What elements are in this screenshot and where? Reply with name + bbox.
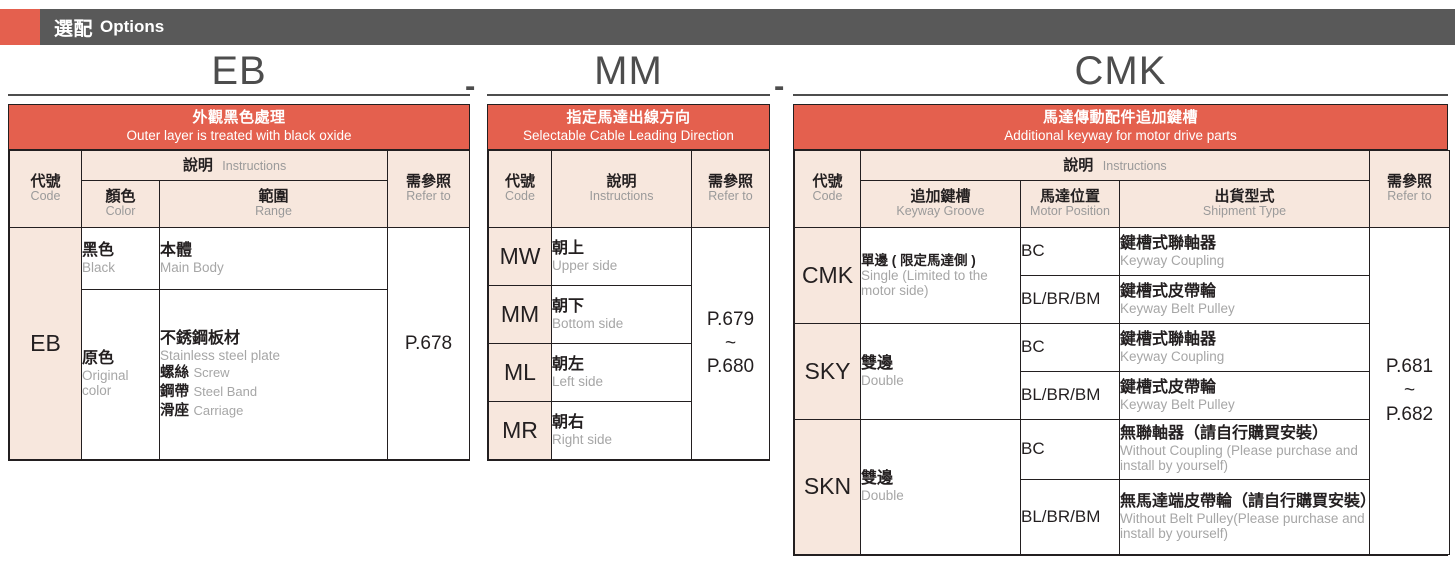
cell-shipment-type: 無馬達端皮帶輪（請自行購買安裝） Without Belt Pulley(Ple… xyxy=(1120,479,1370,554)
shipment-cn: 無聯軸器（請自行購買安裝） xyxy=(1120,425,1369,443)
title-group-mm: MM xyxy=(487,48,770,96)
table-cmk-grid: 代號 Code 說明 Instructions 需參照 Refer to 追加鍵… xyxy=(794,150,1450,555)
range-item-en: Stainless steel plate xyxy=(160,348,387,363)
cell-keyway-skn: 雙邊 Double xyxy=(861,419,1021,554)
keyway-cn: 雙邊 xyxy=(861,355,1020,373)
options-title-cn: 選配 xyxy=(54,14,93,41)
cell-shipment-type: 鍵槽式聯軸器 Keyway Coupling xyxy=(1120,227,1370,275)
table-row: CMK 單邊 ( 限定馬達側 ) Single (Limited to the … xyxy=(795,227,1450,275)
header-instructions-cn: 說明 xyxy=(1063,157,1093,174)
cell-shipment-type: 鍵槽式皮帶輪 Keyway Belt Pulley xyxy=(1120,371,1370,419)
cell-motor-position: BC xyxy=(1021,419,1120,479)
keyway-cn: 雙邊 xyxy=(861,470,1020,488)
cell-direction-mw: 朝上 Upper side xyxy=(552,227,692,285)
range-item: 鋼帶 Steel Band xyxy=(160,383,387,401)
header-shipment-en: Shipment Type xyxy=(1120,205,1369,219)
refer-line-1: P.681 xyxy=(1370,355,1449,379)
cell-motor-position: BL/BR/BM xyxy=(1021,371,1120,419)
range-item: 螺絲 Screw xyxy=(160,364,387,382)
range-item-cn: 鋼帶 xyxy=(160,384,189,400)
table-eb-grid: 代號 Code 說明 Instructions 需參照 Refer to 顏色 … xyxy=(9,150,470,460)
header-refer-en: Refer to xyxy=(1370,190,1449,204)
cell-code-sky: SKY xyxy=(795,323,861,419)
range-item-en: Screw xyxy=(193,365,229,380)
header-refer-to: 需參照 Refer to xyxy=(388,150,470,227)
header-range: 範圍 Range xyxy=(160,180,388,227)
cell-code-skn: SKN xyxy=(795,419,861,554)
table-eb-band: 外觀黑色處理 Outer layer is treated with black… xyxy=(9,105,469,150)
direction-en: Left side xyxy=(552,374,691,389)
cell-motor-position: BC xyxy=(1021,227,1120,275)
table-row: EB 黑色 Black 本體 Main Body P.678 xyxy=(10,227,470,289)
table-mm-header-row: 代號 Code 說明 Instructions 需參照 Refer to xyxy=(489,150,770,227)
table-cmk-band-en: Additional keyway for motor drive parts xyxy=(798,128,1443,143)
separator-dash-1: - xyxy=(465,76,475,96)
table-cmk: 馬達傳動配件追加鍵槽 Additional keyway for motor d… xyxy=(793,104,1448,556)
direction-cn: 朝右 xyxy=(552,414,691,432)
cell-range-original: 不銹鋼板材 Stainless steel plate 螺絲 Screw 鋼帶 … xyxy=(160,289,388,459)
cell-code-eb: EB xyxy=(10,227,82,459)
header-instructions-en: Instructions xyxy=(552,190,691,204)
cell-range-main-body: 本體 Main Body xyxy=(160,227,388,289)
title-mm: MM xyxy=(487,48,770,94)
header-range-en: Range xyxy=(160,205,387,219)
header-instructions: 說明 Instructions xyxy=(861,150,1370,180)
header-code: 代號 Code xyxy=(795,150,861,227)
options-header-bar: 選配 Options xyxy=(0,9,1455,45)
header-instructions: 說明 Instructions xyxy=(552,150,692,227)
refer-line-1: P.679 xyxy=(692,308,769,332)
range-item-en: Main Body xyxy=(160,260,387,275)
header-code-cn: 代號 xyxy=(10,174,81,191)
options-header-body: 選配 Options xyxy=(40,9,1455,45)
cell-motor-position: BC xyxy=(1021,323,1120,371)
cell-color-black: 黑色 Black xyxy=(82,227,160,289)
cell-code-mm: MM xyxy=(489,285,552,343)
cell-code-cmk: CMK xyxy=(795,227,861,323)
table-mm-band-en: Selectable Cable Leading Direction xyxy=(492,128,765,143)
cell-shipment-type: 鍵槽式皮帶輪 Keyway Belt Pulley xyxy=(1120,275,1370,323)
table-mm-band-cn: 指定馬達出線方向 xyxy=(492,110,765,127)
table-mm: 指定馬達出線方向 Selectable Cable Leading Direct… xyxy=(487,104,770,461)
direction-cn: 朝上 xyxy=(552,240,691,258)
shipment-cn: 鍵槽式聯軸器 xyxy=(1120,331,1369,349)
shipment-cn: 鍵槽式聯軸器 xyxy=(1120,235,1369,253)
header-instructions-cn: 說明 xyxy=(183,157,213,174)
title-rule-eb xyxy=(8,94,470,96)
title-rule-cmk xyxy=(793,94,1448,96)
shipment-en: Keyway Coupling xyxy=(1120,349,1369,364)
range-item-cn: 不銹鋼板材 xyxy=(160,330,387,348)
range-item-cn: 本體 xyxy=(160,242,387,260)
header-refer-en: Refer to xyxy=(388,190,469,204)
header-shipment-cn: 出貨型式 xyxy=(1120,189,1369,206)
cell-color-black-en: Black xyxy=(82,260,159,275)
refer-line-3: P.680 xyxy=(692,355,769,379)
table-cmk-header-row-2: 追加鍵槽 Keyway Groove 馬達位置 Motor Position 出… xyxy=(795,180,1450,227)
shipment-en: Keyway Belt Pulley xyxy=(1120,397,1369,412)
keyway-cn: 單邊 ( 限定馬達側 ) xyxy=(861,253,1020,268)
title-group-eb: EB xyxy=(8,48,470,96)
header-code-cn: 代號 xyxy=(489,174,551,191)
header-instructions-en: Instructions xyxy=(1103,159,1167,173)
table-row: SKN 雙邊 Double BC 無聯軸器（請自行購買安裝） Without C… xyxy=(795,419,1450,479)
shipment-cn: 無馬達端皮帶輪（請自行購買安裝） xyxy=(1120,493,1369,511)
header-refer-cn: 需參照 xyxy=(692,174,769,191)
cell-motor-position: BL/BR/BM xyxy=(1021,275,1120,323)
header-code-en: Code xyxy=(489,190,551,204)
title-eb: EB xyxy=(8,48,470,94)
keyway-en: Double xyxy=(861,488,1020,503)
header-motorpos-en: Motor Position xyxy=(1021,205,1119,219)
header-code-cn: 代號 xyxy=(795,174,860,191)
refer-line-3: P.682 xyxy=(1370,403,1449,427)
range-item-en: Carriage xyxy=(193,403,243,418)
range-item-cn: 螺絲 xyxy=(160,365,189,381)
header-instructions-cn: 說明 xyxy=(552,174,691,191)
cell-color-black-cn: 黑色 xyxy=(82,242,159,260)
range-item-cn: 滑座 xyxy=(160,403,189,419)
cell-direction-ml: 朝左 Left side xyxy=(552,343,692,401)
cell-code-mw: MW xyxy=(489,227,552,285)
title-cmk: CMK xyxy=(793,48,1448,94)
cell-refer-to-eb: P.678 xyxy=(388,227,470,459)
cell-motor-position: BL/BR/BM xyxy=(1021,479,1120,554)
table-eb-header-row-1: 代號 Code 說明 Instructions 需參照 Refer to xyxy=(10,150,470,180)
cell-direction-mm: 朝下 Bottom side xyxy=(552,285,692,343)
header-refer-cn: 需參照 xyxy=(388,174,469,191)
cell-color-original-en: Original color xyxy=(82,368,159,398)
accent-block xyxy=(0,9,40,45)
keyway-en: Single (Limited to the motor side) xyxy=(861,268,1020,298)
separator-dash-2: - xyxy=(774,76,784,96)
title-rule-mm xyxy=(487,94,770,96)
header-refer-en: Refer to xyxy=(692,190,769,204)
shipment-cn: 鍵槽式皮帶輪 xyxy=(1120,379,1369,397)
header-keyway-groove: 追加鍵槽 Keyway Groove xyxy=(861,180,1021,227)
header-refer-to: 需參照 Refer to xyxy=(692,150,770,227)
cell-keyway-sky: 雙邊 Double xyxy=(861,323,1021,419)
table-eb-band-en: Outer layer is treated with black oxide xyxy=(13,128,465,143)
header-instructions-en: Instructions xyxy=(222,159,286,173)
header-motor-position: 馬達位置 Motor Position xyxy=(1021,180,1120,227)
cell-refer-to-cmk: P.681 ~ P.682 xyxy=(1370,227,1450,554)
header-code-en: Code xyxy=(795,190,860,204)
shipment-en: Keyway Belt Pulley xyxy=(1120,301,1369,316)
header-instructions: 說明 Instructions xyxy=(82,150,388,180)
table-eb-band-cn: 外觀黑色處理 xyxy=(13,110,465,127)
header-keyway-en: Keyway Groove xyxy=(861,205,1020,219)
title-group-cmk: CMK xyxy=(793,48,1448,96)
cell-direction-mr: 朝右 Right side xyxy=(552,401,692,459)
table-cmk-band-cn: 馬達傳動配件追加鍵槽 xyxy=(798,110,1443,127)
header-keyway-cn: 追加鍵槽 xyxy=(861,189,1020,206)
header-code: 代號 Code xyxy=(10,150,82,227)
shipment-en: Without Belt Pulley(Please purchase and … xyxy=(1120,511,1369,541)
cell-code-mr: MR xyxy=(489,401,552,459)
header-code: 代號 Code xyxy=(489,150,552,227)
direction-cn: 朝下 xyxy=(552,298,691,316)
cell-keyway-cmk: 單邊 ( 限定馬達側 ) Single (Limited to the moto… xyxy=(861,227,1021,323)
range-item: 滑座 Carriage xyxy=(160,402,387,420)
cell-refer-to-mm: P.679 ~ P.680 xyxy=(692,227,770,459)
options-title-en: Options xyxy=(100,17,164,37)
table-eb: 外觀黑色處理 Outer layer is treated with black… xyxy=(8,104,470,461)
code-titles-row: EB - MM - CMK xyxy=(0,48,1455,100)
table-row: MW 朝上 Upper side P.679 ~ P.680 xyxy=(489,227,770,285)
direction-en: Upper side xyxy=(552,258,691,273)
range-item: 不銹鋼板材 Stainless steel plate xyxy=(160,330,387,363)
direction-en: Bottom side xyxy=(552,316,691,331)
range-item-en: Steel Band xyxy=(193,384,257,399)
header-range-cn: 範圍 xyxy=(160,189,387,206)
cell-shipment-type: 無聯軸器（請自行購買安裝） Without Coupling (Please p… xyxy=(1120,419,1370,479)
header-motorpos-cn: 馬達位置 xyxy=(1021,189,1119,206)
table-mm-grid: 代號 Code 說明 Instructions 需參照 Refer to MW … xyxy=(488,150,770,460)
refer-line-2: ~ xyxy=(692,332,769,356)
shipment-en: Without Coupling (Please purchase and in… xyxy=(1120,443,1369,473)
cell-color-original-cn: 原色 xyxy=(82,350,159,368)
direction-cn: 朝左 xyxy=(552,356,691,374)
shipment-en: Keyway Coupling xyxy=(1120,253,1369,268)
header-color: 顏色 Color xyxy=(82,180,160,227)
header-refer-cn: 需參照 xyxy=(1370,174,1449,191)
header-refer-to: 需參照 Refer to xyxy=(1370,150,1450,227)
cell-color-original: 原色 Original color xyxy=(82,289,160,459)
header-shipment-type: 出貨型式 Shipment Type xyxy=(1120,180,1370,227)
table-row: SKY 雙邊 Double BC 鍵槽式聯軸器 Keyway Coupling xyxy=(795,323,1450,371)
header-color-cn: 顏色 xyxy=(82,189,159,206)
header-code-en: Code xyxy=(10,190,81,204)
cell-code-ml: ML xyxy=(489,343,552,401)
header-color-en: Color xyxy=(82,205,159,219)
keyway-en: Double xyxy=(861,373,1020,388)
cell-shipment-type: 鍵槽式聯軸器 Keyway Coupling xyxy=(1120,323,1370,371)
table-mm-band: 指定馬達出線方向 Selectable Cable Leading Direct… xyxy=(488,105,769,150)
table-cmk-band: 馬達傳動配件追加鍵槽 Additional keyway for motor d… xyxy=(794,105,1447,150)
shipment-cn: 鍵槽式皮帶輪 xyxy=(1120,283,1369,301)
refer-line-2: ~ xyxy=(1370,379,1449,403)
table-cmk-header-row-1: 代號 Code 說明 Instructions 需參照 Refer to xyxy=(795,150,1450,180)
direction-en: Right side xyxy=(552,432,691,447)
